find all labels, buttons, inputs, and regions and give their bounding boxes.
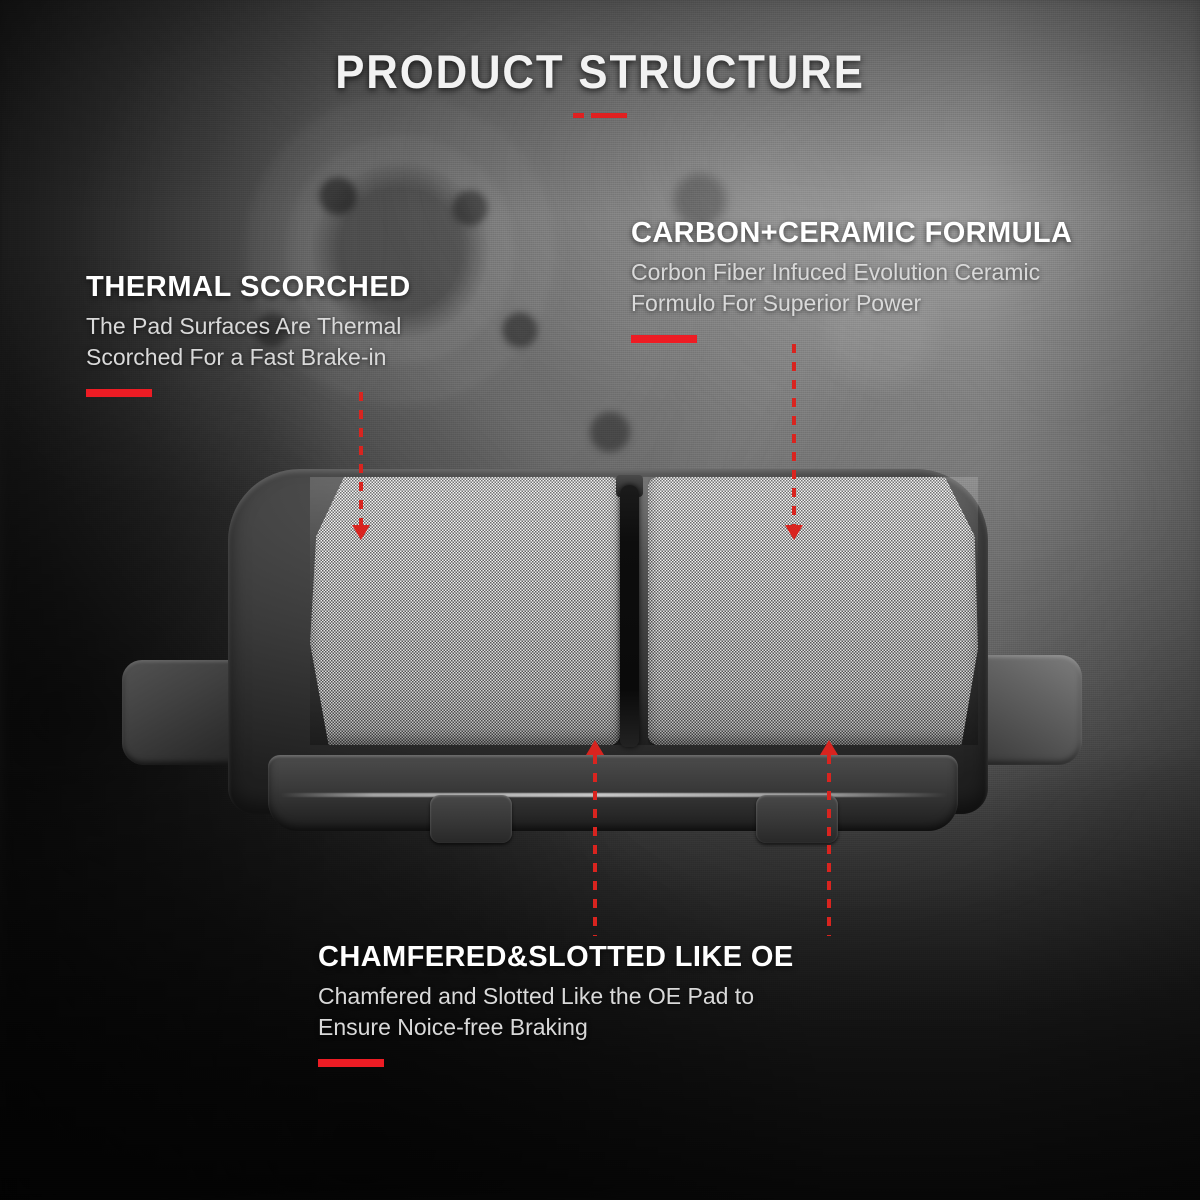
accent-dash-long: [591, 113, 627, 118]
center-slot: [620, 485, 639, 747]
arrow-chamfered-slot: [586, 740, 604, 936]
product-structure-infographic: PRODUCT STRUCTURE THERMAL: [0, 0, 1200, 1200]
callout-body: Corbon Fiber Infuced Evolution Ceramic F…: [631, 257, 1171, 318]
arrow-carbon-ceramic: [785, 344, 803, 540]
accent-dash-short: [573, 113, 584, 118]
page-title: PRODUCT STRUCTURE: [42, 44, 1158, 99]
title-accent-rule: [0, 113, 1200, 118]
callout-body: The Pad Surfaces Are Thermal Scorched Fo…: [86, 311, 496, 372]
arrow-head-icon: [820, 740, 838, 755]
callout-thermal-scorched: THERMAL SCORCHED The Pad Surfaces Are Th…: [86, 272, 496, 397]
arrow-thermal-scorched: [352, 392, 370, 540]
arrow-head-icon: [785, 525, 803, 540]
callout-heading: CHAMFERED&SLOTTED LIKE OE: [318, 942, 918, 972]
arrow-head-icon: [586, 740, 604, 755]
retainer-tab-left: [430, 795, 512, 843]
arrow-shaft: [827, 755, 831, 936]
callout-underline-bar: [318, 1059, 384, 1067]
friction-surface-right: [648, 477, 978, 745]
callout-body: Chamfered and Slotted Like the OE Pad to…: [318, 981, 918, 1042]
callout-underline-bar: [631, 335, 697, 343]
callout-underline-bar: [86, 389, 152, 397]
callout-chamfered-slotted: CHAMFERED&SLOTTED LIKE OE Chamfered and …: [318, 942, 918, 1067]
arrow-head-icon: [352, 525, 370, 540]
callout-heading: THERMAL SCORCHED: [86, 272, 496, 302]
arrow-shaft: [792, 344, 796, 525]
plate-edge-highlight: [280, 793, 948, 797]
arrow-shaft: [593, 755, 597, 936]
arrow-chamfered-tab: [820, 740, 838, 936]
callout-heading: CARBON+CERAMIC FORMULA: [631, 218, 1171, 248]
callout-carbon-ceramic-formula: CARBON+CERAMIC FORMULA Corbon Fiber Infu…: [631, 218, 1171, 343]
arrow-shaft: [359, 392, 363, 525]
